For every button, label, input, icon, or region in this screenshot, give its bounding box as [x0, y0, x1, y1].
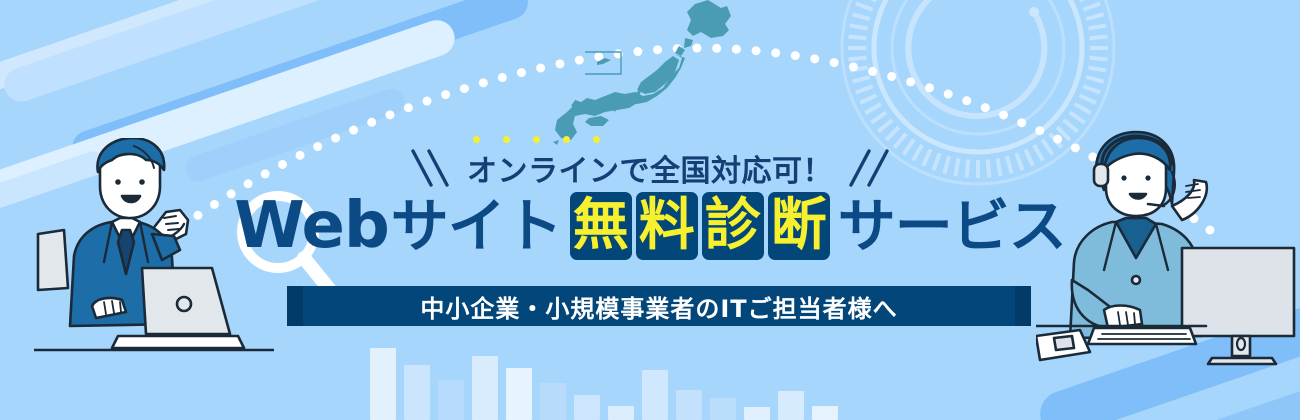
banner-content: オンラインで全国対応可！ Web サイト 無 料 診 断 サービス 中小企業・小… — [0, 0, 1300, 420]
emphasis-dots — [467, 136, 833, 144]
title-web: Web — [234, 194, 391, 258]
boxed-keyword: 無 料 診 断 — [570, 192, 830, 260]
subtitle-text: オンラインで全国対応可！ — [467, 146, 833, 190]
boxed-char: 診 — [702, 192, 764, 260]
hero-banner: オンラインで全国対応可！ Web サイト 無 料 診 断 サービス 中小企業・小… — [0, 0, 1300, 420]
page-title: Web サイト 無 料 診 断 サービス — [234, 192, 1066, 260]
boxed-char: 料 — [636, 192, 698, 260]
title-site: サイト — [391, 197, 562, 255]
slash-right-icon — [847, 147, 893, 189]
title-service: サービス — [838, 197, 1066, 255]
boxed-char: 断 — [768, 192, 830, 260]
target-audience-ribbon: 中小企業・小規模事業者のITご担当者様へ — [303, 286, 1015, 326]
slash-left-icon — [407, 147, 453, 189]
boxed-char: 無 — [570, 192, 632, 260]
ribbon-label: 中小企業・小規模事業者のITご担当者様へ — [420, 289, 897, 324]
subtitle-row: オンラインで全国対応可！ — [0, 146, 1300, 190]
subtitle-label: オンラインで全国対応可！ — [467, 154, 833, 189]
title-row: Web サイト 無 料 診 断 サービス — [0, 192, 1300, 260]
